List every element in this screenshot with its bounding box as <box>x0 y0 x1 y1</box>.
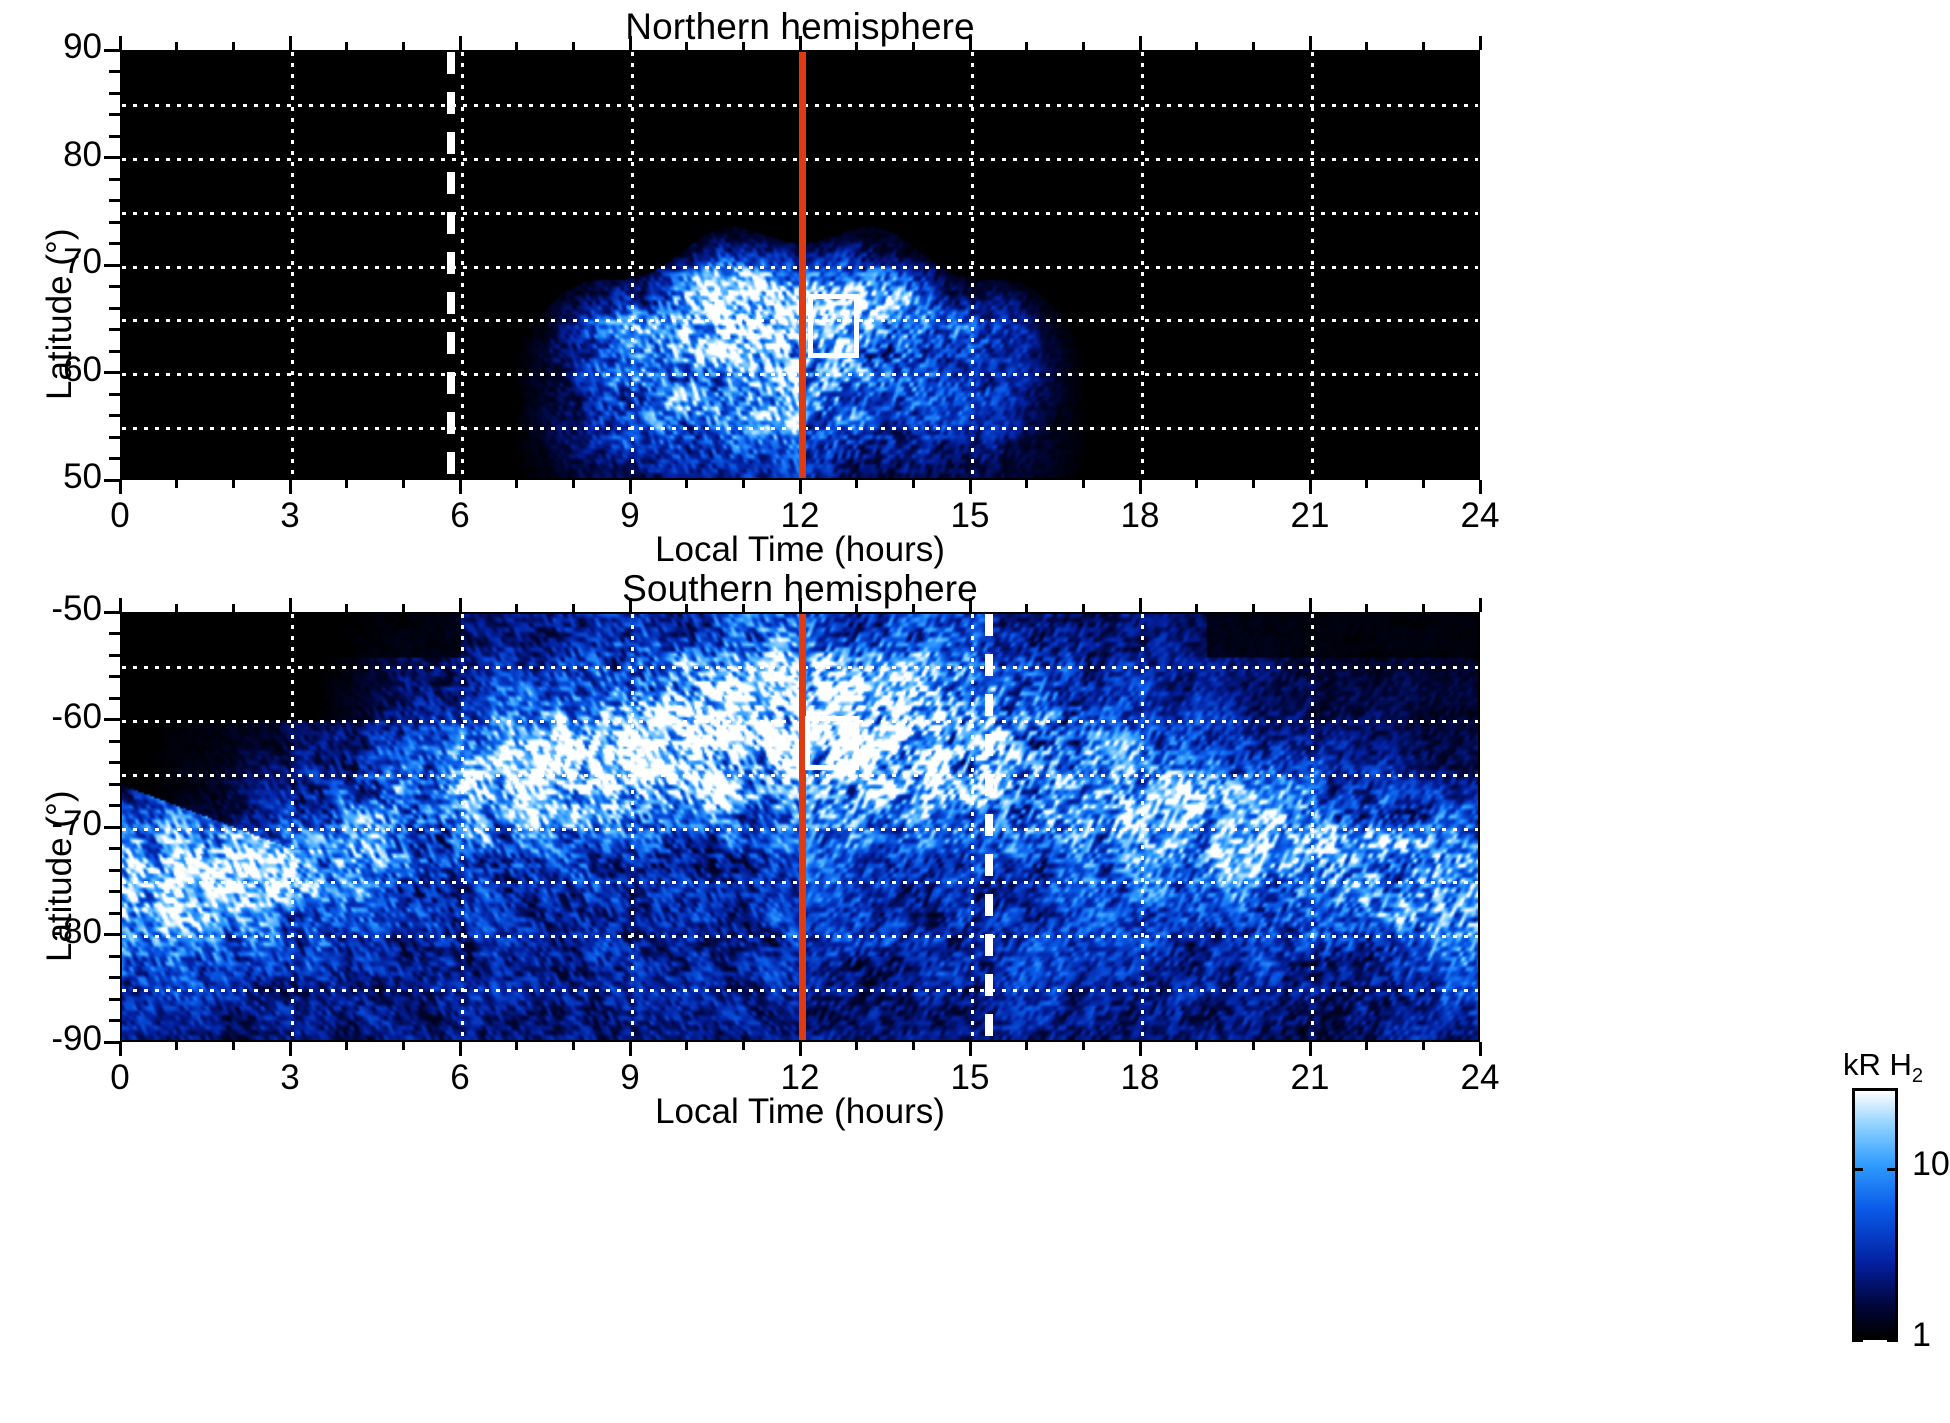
xaxis-major-tickmark-top <box>459 598 462 612</box>
plot-area-northern[interactable] <box>120 50 1480 480</box>
yaxis-tick-southern-0: -50 <box>2 589 102 629</box>
xaxis-major-tickmark-top <box>1309 598 1312 612</box>
xaxis-minor-tickmark-top <box>912 42 915 50</box>
yaxis-minor-tickmark <box>109 113 120 116</box>
yaxis-minor-tickmark <box>109 70 120 73</box>
xaxis-minor-tickmark-top <box>175 42 178 50</box>
yaxis-minor-tickmark <box>109 242 120 245</box>
yaxis-minor-tickmark <box>109 654 120 657</box>
xaxis-minor-tickmark <box>1025 480 1028 488</box>
xaxis-major-tickmark-top <box>629 36 632 50</box>
xaxis-minor-tickmark <box>402 480 405 488</box>
xaxis-minor-tickmark-top <box>515 42 518 50</box>
xaxis-major-tickmark <box>289 480 292 494</box>
yaxis-minor-tickmark <box>109 804 120 807</box>
xaxis-major-tickmark <box>1309 1042 1312 1056</box>
xaxis-minor-tickmark <box>1082 480 1085 488</box>
xaxis-major-tickmark-top <box>1479 598 1482 612</box>
yaxis-tick-northern-0: 50 <box>2 457 102 497</box>
yaxis-minor-tickmark <box>109 414 120 417</box>
xaxis-minor-tickmark <box>1025 1042 1028 1050</box>
terminator-line-northern <box>447 52 455 480</box>
yaxis-minor-tickmark <box>109 632 120 635</box>
xaxis-major-tickmark-top <box>1139 598 1142 612</box>
xaxis-major-tickmark <box>799 480 802 494</box>
yaxis-major-tickmark <box>104 264 120 267</box>
xaxis-major-tickmark-top <box>799 598 802 612</box>
xaxis-major-tickmark <box>799 1042 802 1056</box>
xaxis-minor-tickmark <box>1195 1042 1198 1050</box>
yaxis-minor-tickmark <box>109 436 120 439</box>
xaxis-minor-tickmark-top <box>685 42 688 50</box>
xaxis-major-tickmark-top <box>629 598 632 612</box>
yaxis-major-tickmark <box>104 718 120 721</box>
xaxis-minor-tickmark-top <box>402 42 405 50</box>
yaxis-major-tickmark <box>104 156 120 159</box>
xaxis-major-tickmark-top <box>799 36 802 50</box>
noon-meridian-line-northern <box>799 52 806 480</box>
xaxis-major-tickmark <box>459 480 462 494</box>
xaxis-minor-tickmark <box>572 480 575 488</box>
colorbar-tickmark-right <box>1887 1168 1898 1171</box>
yaxis-minor-tickmark <box>109 307 120 310</box>
xaxis-minor-tickmark-top <box>232 604 235 612</box>
xaxis-major-tickmark-top <box>289 36 292 50</box>
yaxis-minor-tickmark <box>109 998 120 1001</box>
xaxis-minor-tickmark-top <box>572 42 575 50</box>
xaxis-minor-tickmark-top <box>1195 42 1198 50</box>
xaxis-minor-tickmark-top <box>1365 42 1368 50</box>
xaxis-major-tickmark <box>119 1042 122 1056</box>
xaxis-minor-tickmark-top <box>742 604 745 612</box>
xaxis-minor-tickmark-top <box>1422 42 1425 50</box>
yaxis-major-tickmark <box>104 371 120 374</box>
xaxis-minor-tickmark <box>1252 480 1255 488</box>
yaxis-minor-tickmark <box>109 1019 120 1022</box>
xaxis-minor-tickmark <box>515 1042 518 1050</box>
yaxis-minor-tickmark <box>109 675 120 678</box>
yaxis-major-tickmark <box>104 826 120 829</box>
colorbar-tickmark-right <box>1887 1339 1898 1342</box>
yaxis-minor-tickmark <box>109 847 120 850</box>
xaxis-minor-tickmark <box>1195 480 1198 488</box>
xaxis-major-tickmark <box>1139 1042 1142 1056</box>
yaxis-minor-tickmark <box>109 955 120 958</box>
colorbar-tickmark-left <box>1852 1339 1863 1342</box>
xaxis-minor-tickmark-top <box>515 604 518 612</box>
xaxis-minor-tickmark-top <box>855 42 858 50</box>
yaxis-minor-tickmark <box>109 869 120 872</box>
xaxis-major-tickmark <box>459 1042 462 1056</box>
plot-area-southern[interactable] <box>120 612 1480 1042</box>
xaxis-major-tickmark-top <box>969 36 972 50</box>
xaxis-minor-tickmark <box>912 480 915 488</box>
colorbar-gradient <box>1852 1088 1898 1340</box>
xaxis-minor-tickmark <box>175 1042 178 1050</box>
xaxis-major-tickmark <box>969 480 972 494</box>
xaxis-major-tickmark <box>1139 480 1142 494</box>
xaxis-minor-tickmark-top <box>1025 604 1028 612</box>
colorbar-title-text: kR H <box>1843 1047 1912 1082</box>
noon-meridian-line-southern <box>799 614 806 1042</box>
xaxis-major-tickmark <box>1309 480 1312 494</box>
xaxis-minor-tickmark-top <box>1365 604 1368 612</box>
xaxis-minor-tickmark-top <box>572 604 575 612</box>
xaxis-minor-tickmark-top <box>345 604 348 612</box>
yaxis-label-southern: Latitude (°) <box>40 790 80 962</box>
yaxis-tick-southern-4: -90 <box>2 1019 102 1059</box>
xaxis-minor-tickmark <box>345 1042 348 1050</box>
xaxis-minor-tickmark-top <box>1422 604 1425 612</box>
xaxis-minor-tickmark-top <box>1252 604 1255 612</box>
xaxis-minor-tickmark-top <box>345 42 348 50</box>
xaxis-minor-tickmark-top <box>402 604 405 612</box>
figure-root: Northern hemisphere 03691215182124 50607… <box>0 0 1950 1423</box>
yaxis-major-tickmark <box>104 611 120 614</box>
xaxis-major-tickmark-top <box>289 598 292 612</box>
xaxis-minor-tickmark <box>515 480 518 488</box>
colorbar-title: kR H2 <box>1843 1047 1923 1088</box>
xaxis-minor-tickmark <box>1082 1042 1085 1050</box>
xaxis-minor-tickmark <box>742 1042 745 1050</box>
xaxis-minor-tickmark <box>1365 480 1368 488</box>
colorbar-tickmark-left <box>1852 1168 1863 1171</box>
xaxis-major-tickmark <box>629 480 632 494</box>
xaxis-minor-tickmark <box>1252 1042 1255 1050</box>
xaxis-major-tickmark <box>629 1042 632 1056</box>
yaxis-major-tickmark <box>104 933 120 936</box>
yaxis-minor-tickmark <box>109 976 120 979</box>
colorbar-title-subscript: 2 <box>1912 1065 1923 1087</box>
xaxis-minor-tickmark-top <box>1025 42 1028 50</box>
yaxis-minor-tickmark <box>109 393 120 396</box>
xaxis-minor-tickmark-top <box>912 604 915 612</box>
xaxis-minor-tickmark <box>345 480 348 488</box>
xaxis-major-tickmark <box>969 1042 972 1056</box>
yaxis-minor-tickmark <box>109 740 120 743</box>
yaxis-minor-tickmark <box>109 221 120 224</box>
yaxis-minor-tickmark <box>109 761 120 764</box>
yaxis-minor-tickmark <box>109 783 120 786</box>
yaxis-major-tickmark <box>104 479 120 482</box>
terminator-line-southern <box>985 614 993 1042</box>
xaxis-minor-tickmark <box>402 1042 405 1050</box>
xaxis-minor-tickmark-top <box>855 604 858 612</box>
xaxis-minor-tickmark <box>1422 480 1425 488</box>
yaxis-minor-tickmark <box>109 328 120 331</box>
xaxis-minor-tickmark <box>232 480 235 488</box>
xaxis-major-tickmark-top <box>1309 36 1312 50</box>
xaxis-minor-tickmark-top <box>1252 42 1255 50</box>
xaxis-label-southern: Local Time (hours) <box>120 1092 1480 1132</box>
xaxis-minor-tickmark-top <box>1195 604 1198 612</box>
yaxis-major-tickmark <box>104 1041 120 1044</box>
xaxis-minor-tickmark-top <box>175 604 178 612</box>
yaxis-minor-tickmark <box>109 135 120 138</box>
xaxis-minor-tickmark-top <box>1082 42 1085 50</box>
yaxis-minor-tickmark <box>109 178 120 181</box>
yaxis-major-tickmark <box>104 49 120 52</box>
xaxis-major-tickmark-top <box>459 36 462 50</box>
xaxis-minor-tickmark <box>855 480 858 488</box>
xaxis-major-tickmark <box>119 480 122 494</box>
yaxis-minor-tickmark <box>109 912 120 915</box>
xaxis-minor-tickmark <box>912 1042 915 1050</box>
colorbar-tick-0: 10 <box>1912 1145 1950 1184</box>
xaxis-label-northern: Local Time (hours) <box>120 530 1480 570</box>
yaxis-minor-tickmark <box>109 890 120 893</box>
xaxis-minor-tickmark <box>175 480 178 488</box>
region-of-interest-box-southern[interactable] <box>805 716 859 770</box>
yaxis-label-northern: Latitude (°) <box>40 228 80 400</box>
yaxis-tick-northern-4: 90 <box>2 27 102 67</box>
xaxis-minor-tickmark <box>685 480 688 488</box>
xaxis-minor-tickmark <box>232 1042 235 1050</box>
xaxis-minor-tickmark-top <box>685 604 688 612</box>
yaxis-minor-tickmark <box>109 457 120 460</box>
xaxis-major-tickmark-top <box>969 598 972 612</box>
yaxis-minor-tickmark <box>109 350 120 353</box>
xaxis-minor-tickmark-top <box>1082 604 1085 612</box>
xaxis-minor-tickmark <box>572 1042 575 1050</box>
yaxis-minor-tickmark <box>109 199 120 202</box>
xaxis-minor-tickmark <box>742 480 745 488</box>
yaxis-minor-tickmark <box>109 285 120 288</box>
yaxis-minor-tickmark <box>109 697 120 700</box>
colorbar-tick-1: 1 <box>1912 1316 1931 1355</box>
xaxis-minor-tickmark <box>1422 1042 1425 1050</box>
yaxis-minor-tickmark <box>109 92 120 95</box>
xaxis-major-tickmark <box>1479 480 1482 494</box>
xaxis-minor-tickmark <box>1365 1042 1368 1050</box>
xaxis-major-tickmark <box>289 1042 292 1056</box>
xaxis-minor-tickmark-top <box>232 42 235 50</box>
xaxis-major-tickmark-top <box>1139 36 1142 50</box>
xaxis-major-tickmark <box>1479 1042 1482 1056</box>
yaxis-tick-southern-1: -60 <box>2 697 102 737</box>
xaxis-minor-tickmark <box>685 1042 688 1050</box>
yaxis-tick-northern-3: 80 <box>2 135 102 175</box>
xaxis-minor-tickmark-top <box>742 42 745 50</box>
xaxis-minor-tickmark <box>855 1042 858 1050</box>
xaxis-major-tickmark-top <box>1479 36 1482 50</box>
region-of-interest-box-northern[interactable] <box>808 294 859 359</box>
